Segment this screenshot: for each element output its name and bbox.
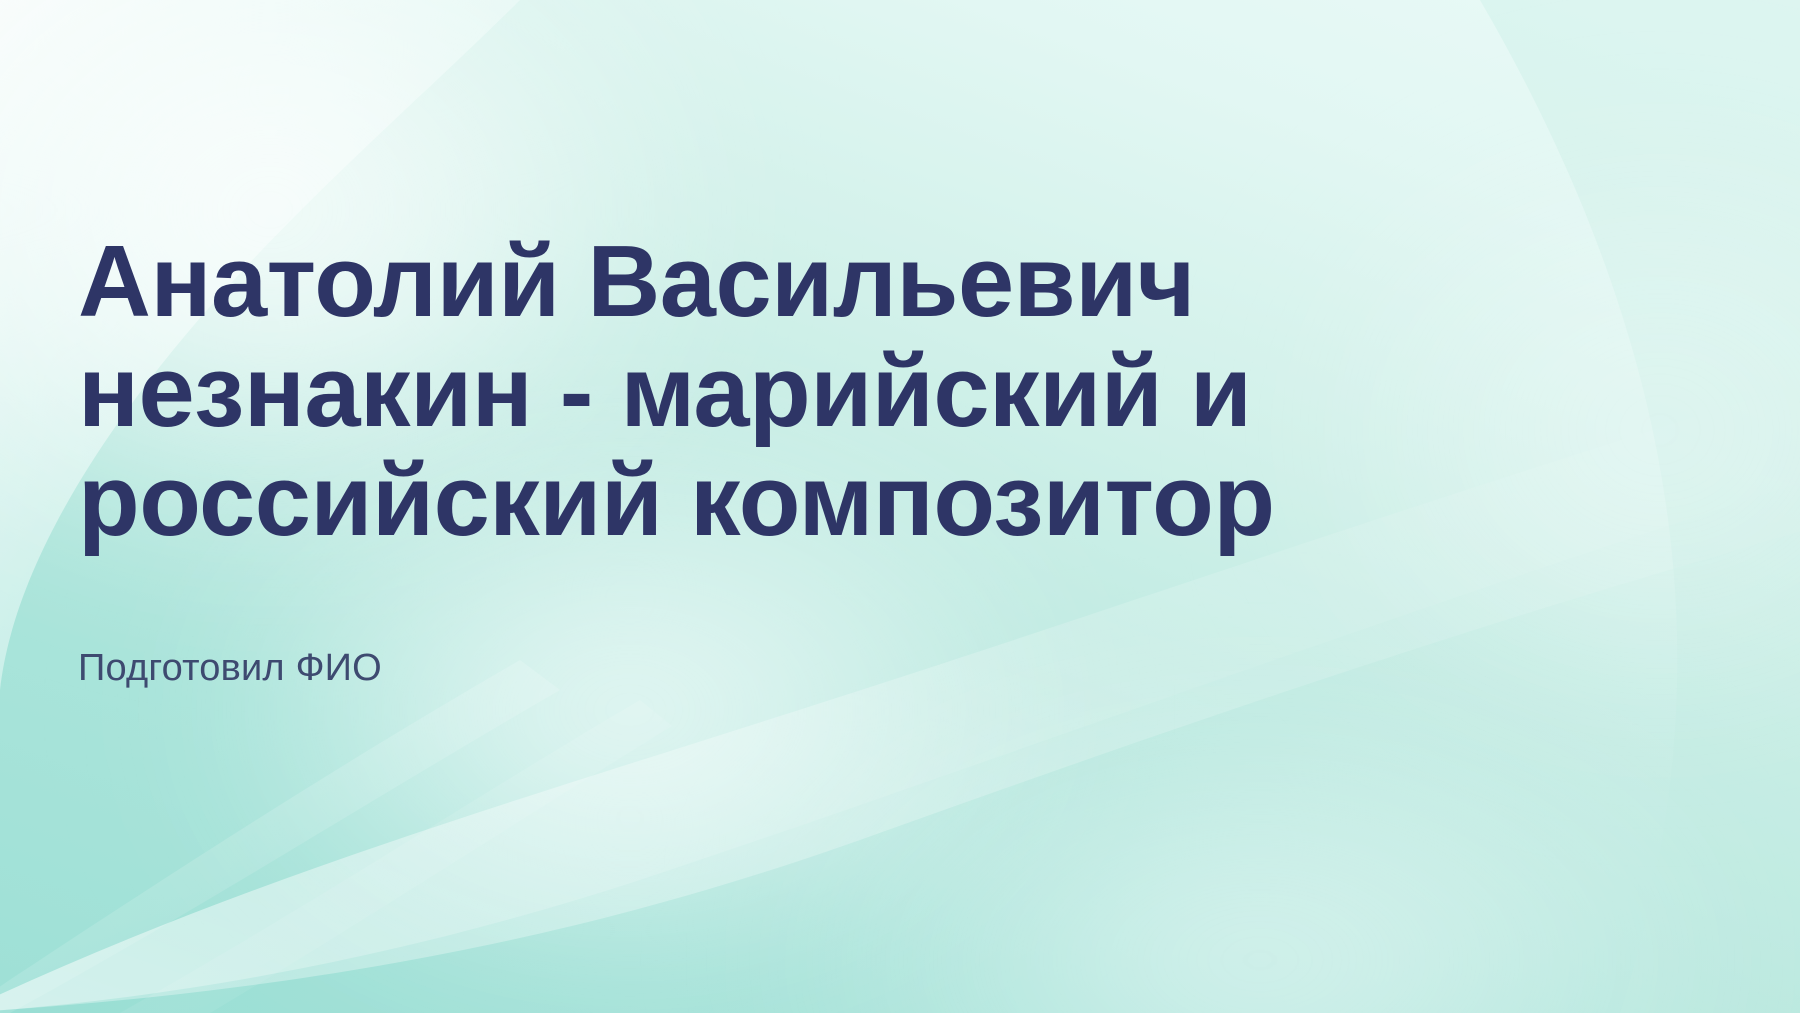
glow-bottom — [760, 700, 1760, 1013]
slide-title: Анатолий Васильевич незнакин - марийский… — [78, 228, 1668, 557]
slide-subtitle: Подготовил ФИО — [78, 557, 1738, 693]
slide-content: Анатолий Васильевич незнакин - марийский… — [78, 228, 1738, 692]
wave-streak-two — [120, 700, 672, 1013]
title-slide: Анатолий Васильевич незнакин - марийский… — [0, 0, 1800, 1013]
wave-streak-one — [0, 660, 560, 1013]
